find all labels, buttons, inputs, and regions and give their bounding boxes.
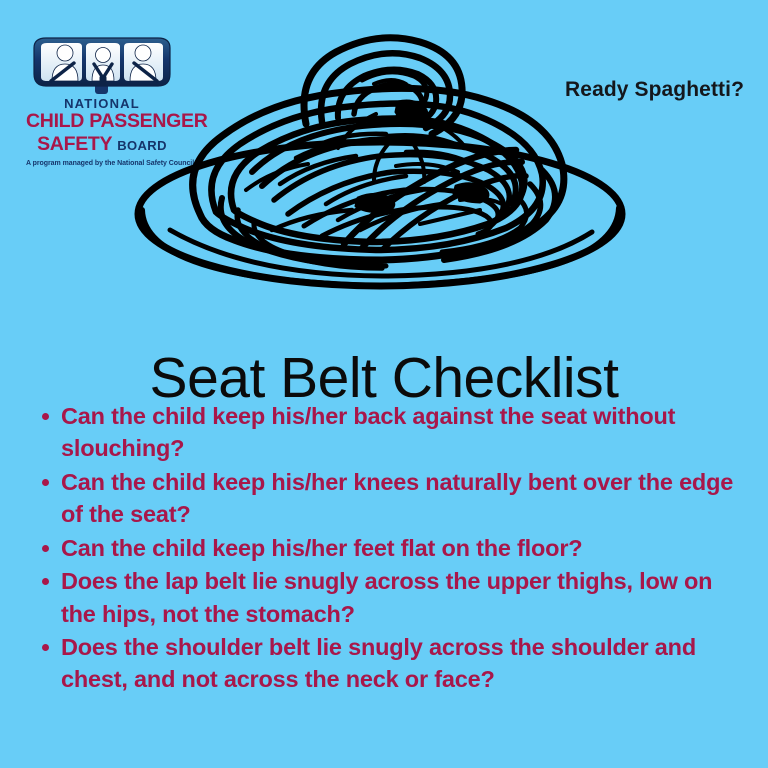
list-item-label: Can the child keep his/her knees natural…: [61, 469, 733, 527]
seat-belt-checklist-list: Can the child keep his/her back against …: [36, 400, 750, 697]
list-item: Does the shoulder belt lie snugly across…: [36, 631, 750, 696]
list-item: Does the lap belt lie snugly across the …: [36, 565, 750, 630]
list-item: Can the child keep his/her knees natural…: [36, 466, 750, 531]
list-item-label: Can the child keep his/her feet flat on …: [61, 535, 582, 561]
list-item-label: Can the child keep his/her back against …: [61, 403, 675, 461]
bullet-icon: [42, 479, 49, 486]
list-item-label: Does the lap belt lie snugly across the …: [61, 568, 712, 626]
logo-word-safety: SAFETY: [37, 133, 112, 156]
bullet-icon: [42, 644, 49, 651]
list-item-label: Does the shoulder belt lie snugly across…: [61, 634, 696, 692]
bullet-icon: [42, 413, 49, 420]
seat-belt-checklist-poster: NATIONAL CHILD PASSENGER SAFETY BOARD A …: [0, 0, 768, 768]
spaghetti-plate-illustration: [130, 18, 640, 308]
bullet-icon: [42, 578, 49, 585]
list-item: Can the child keep his/her back against …: [36, 400, 750, 465]
bullet-icon: [42, 545, 49, 552]
list-item: Can the child keep his/her feet flat on …: [36, 532, 750, 564]
